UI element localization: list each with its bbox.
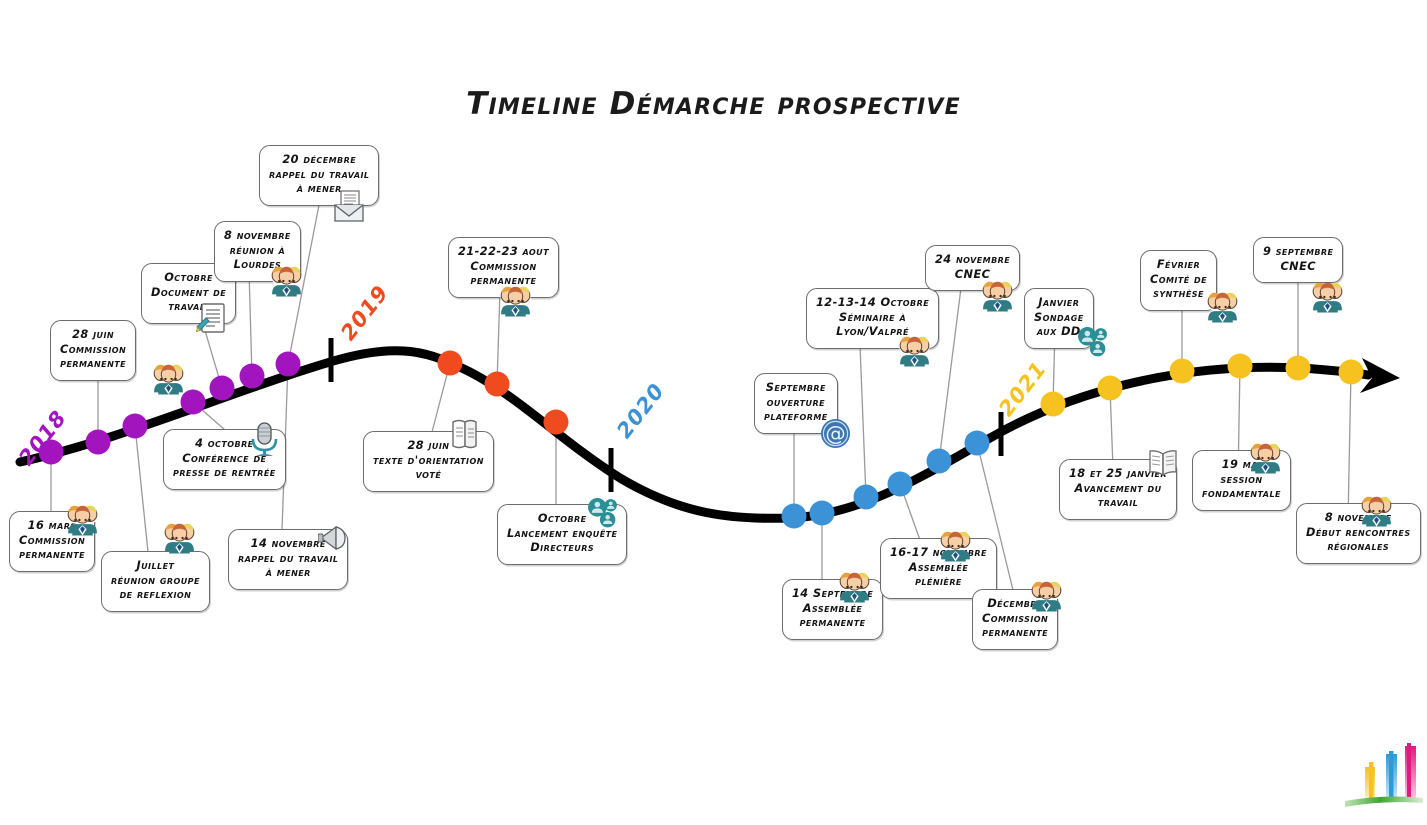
event-card-juillet[interactable]: Juillet réunion groupe de reflexion [101, 551, 210, 612]
event-line: 8 novembre [224, 229, 291, 244]
scroll-icon [447, 418, 479, 451]
event-line: Janvier [1034, 296, 1084, 311]
year-label-2020: 2020 [612, 379, 669, 443]
event-line: Séminaire à [816, 311, 929, 326]
event-line: de reflexion [111, 588, 200, 603]
event-line: 9 septembre [1263, 245, 1333, 260]
event-line: Février [1150, 258, 1207, 273]
year-label-2021: 2021 [994, 357, 1051, 421]
event-line: presse de rentrée [173, 466, 276, 481]
event-line: rappel du travail [269, 168, 369, 183]
event-line: réunion à [224, 244, 291, 259]
timeline-canvas: Timeline Démarche prospective [0, 0, 1427, 825]
event-line: 21-22-23 aout [458, 245, 549, 260]
mail-icon [333, 189, 365, 223]
year-label-2018: 2018 [14, 406, 71, 470]
event-line: plateforme [764, 410, 828, 425]
people-icon [981, 279, 1014, 314]
event-line: 8 novembre [1306, 511, 1411, 526]
event-line: 12-13-14 Octobre [816, 296, 929, 311]
page-title: Timeline Démarche prospective [0, 86, 1427, 122]
event-line: Juillet [111, 559, 200, 574]
event-line: Document de [151, 286, 226, 301]
document-icon [196, 301, 228, 335]
event-line: CNEC [1263, 260, 1333, 275]
event-card-8-novembre-regionales[interactable]: 8 novembre Début rencontres régionales [1296, 503, 1421, 564]
network-icon [1076, 325, 1109, 359]
people-icon [499, 284, 532, 319]
year-label-2019: 2019 [336, 281, 393, 345]
event-line: Sondage [1034, 311, 1084, 326]
people-icon [1249, 441, 1282, 476]
people-icon [152, 362, 185, 397]
event-line: travail [1069, 496, 1167, 511]
people-icon [66, 503, 99, 538]
event-line: Septembre [764, 381, 828, 396]
event-line: permanente [19, 548, 85, 563]
event-line: permanente [60, 357, 126, 372]
event-line: voté [373, 468, 484, 483]
people-icon [838, 570, 871, 605]
network-icon [586, 496, 619, 530]
event-line: Comité de [1150, 273, 1207, 288]
event-line: régionales [1306, 540, 1411, 555]
event-line: permanente [982, 626, 1048, 641]
event-line: fondamentale [1202, 487, 1281, 502]
event-line: Directeurs [507, 541, 617, 556]
timeline-arrow-head [1360, 358, 1400, 393]
book-icon [1147, 447, 1179, 480]
event-card-28-juin-cp[interactable]: 28 juin Commission permanente [50, 320, 136, 381]
event-line: permanente [792, 616, 873, 631]
event-line: Avancement du [1069, 482, 1167, 497]
event-card-9-septembre-cnec[interactable]: 9 septembre CNEC [1253, 237, 1343, 283]
event-line: Commission [458, 260, 549, 275]
event-line: plénière [890, 575, 987, 590]
people-icon [163, 521, 196, 556]
organisation-logo [1345, 735, 1423, 819]
event-line: Commission [60, 343, 126, 358]
megaphone-icon [318, 521, 350, 555]
people-icon [939, 529, 972, 564]
event-line: ouverture [764, 396, 828, 411]
people-icon [1311, 280, 1344, 315]
people-icon [1360, 494, 1393, 529]
event-line: Début rencontres [1306, 526, 1411, 541]
event-line: à mener [238, 566, 338, 581]
event-line: 20 décembre [269, 153, 369, 168]
event-line: 24 novembre [935, 253, 1010, 268]
milestone-dots-2021 [1041, 354, 1364, 417]
event-line: texte d'orientation [373, 454, 484, 469]
people-icon [1206, 290, 1239, 325]
at-icon [820, 418, 851, 449]
microphone-icon [248, 421, 280, 458]
event-line: réunion groupe [111, 574, 200, 589]
timeline-graphic [0, 0, 1427, 825]
event-line: 28 juin [60, 328, 126, 343]
people-icon [898, 334, 931, 369]
event-line: synthèse [1150, 287, 1207, 302]
milestone-dots-2020 [782, 431, 990, 529]
people-icon [270, 264, 303, 299]
people-icon [1030, 579, 1063, 614]
